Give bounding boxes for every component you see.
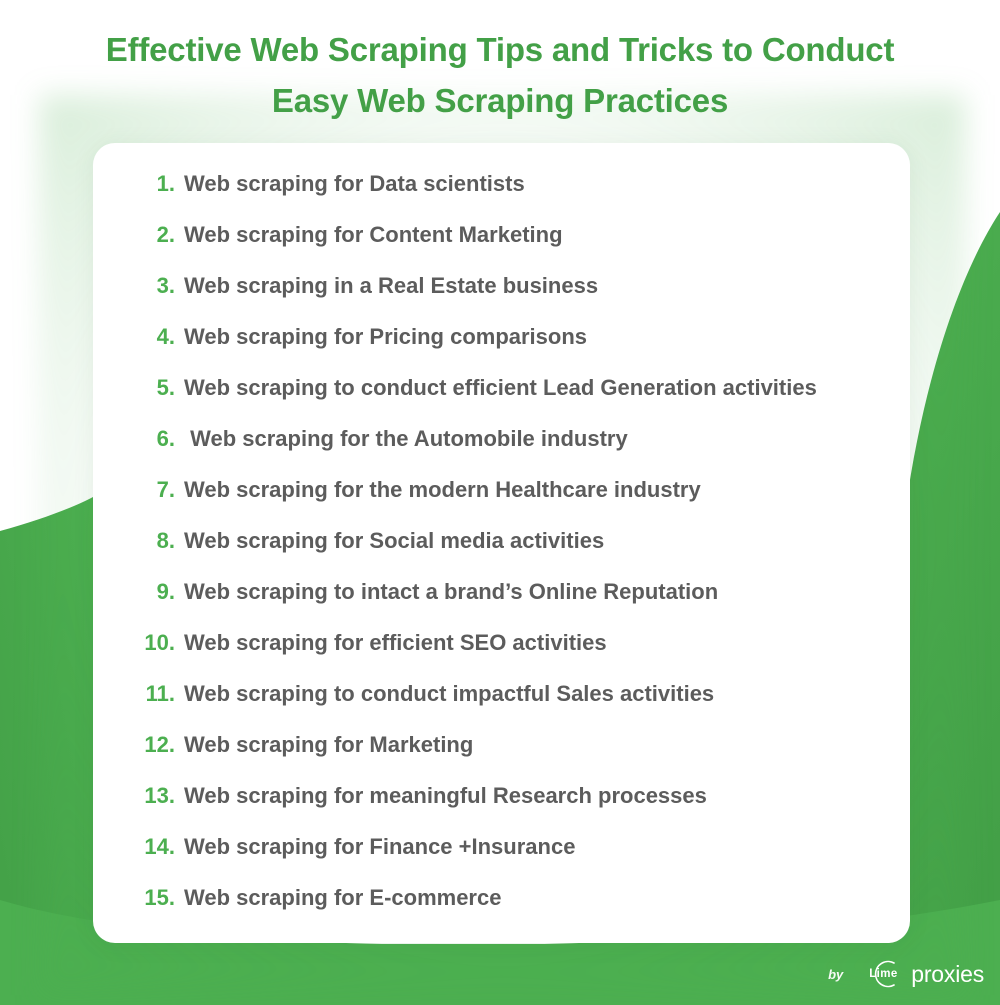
list-item-number: 1. <box>117 173 175 195</box>
list-item-label: Web scraping to conduct efficient Lead G… <box>184 377 817 399</box>
list-item-label: Web scraping to intact a brand’s Online … <box>184 581 718 603</box>
list-item-label: Web scraping for meaningful Research pro… <box>184 785 707 807</box>
list-item-number: 14. <box>117 836 175 858</box>
list-item: 5. Web scraping to conduct efficient Lea… <box>93 377 910 428</box>
list-item: 1. Web scraping for Data scientists <box>93 173 910 224</box>
list-item-number: 6. <box>117 428 175 450</box>
list-item: 13. Web scraping for meaningful Research… <box>93 785 910 836</box>
list-item: 6. Web scraping for the Automobile indus… <box>93 428 910 479</box>
page-title-line-1: Effective Web Scraping Tips and Tricks t… <box>0 24 1000 75</box>
list-item: 3. Web scraping in a Real Estate busines… <box>93 275 910 326</box>
list-item-label: Web scraping for E-commerce <box>184 887 501 909</box>
list-item: 2. Web scraping for Content Marketing <box>93 224 910 275</box>
list-item-label: Web scraping for the Automobile industry <box>184 428 628 450</box>
list-item-label: Web scraping for efficient SEO activitie… <box>184 632 607 654</box>
brand-proxies-label: proxies <box>911 961 984 988</box>
list-item-number: 2. <box>117 224 175 246</box>
list-item-number: 8. <box>117 530 175 552</box>
list-item-label: Web scraping in a Real Estate business <box>184 275 598 297</box>
tips-card: 1. Web scraping for Data scientists 2. W… <box>93 143 910 943</box>
list-item-label: Web scraping for Pricing comparisons <box>184 326 587 348</box>
brand-logo: by Lime proxies <box>828 957 984 991</box>
lime-arc-icon: Lime <box>848 959 908 989</box>
list-item-label: Web scraping to conduct impactful Sales … <box>184 683 714 705</box>
brand-by-label: by <box>828 967 843 982</box>
list-item-number: 11. <box>117 683 175 705</box>
tips-list: 1. Web scraping for Data scientists 2. W… <box>93 143 910 938</box>
list-item: 8. Web scraping for Social media activit… <box>93 530 910 581</box>
list-item-label: Web scraping for the modern Healthcare i… <box>184 479 701 501</box>
list-item-number: 15. <box>117 887 175 909</box>
list-item-label: Web scraping for Content Marketing <box>184 224 563 246</box>
page-title-line-2: Easy Web Scraping Practices <box>0 75 1000 126</box>
list-item-label: Web scraping for Social media activities <box>184 530 604 552</box>
list-item: 10. Web scraping for efficient SEO activ… <box>93 632 910 683</box>
list-item-number: 3. <box>117 275 175 297</box>
list-item-number: 13. <box>117 785 175 807</box>
list-item-number: 4. <box>117 326 175 348</box>
list-item: 9. Web scraping to intact a brand’s Onli… <box>93 581 910 632</box>
list-item-label: Web scraping for Marketing <box>184 734 473 756</box>
list-item: 14. Web scraping for Finance +Insurance <box>93 836 910 887</box>
list-item-label: Web scraping for Finance +Insurance <box>184 836 575 858</box>
list-item-number: 5. <box>117 377 175 399</box>
infographic-canvas: Effective Web Scraping Tips and Tricks t… <box>0 0 1000 1005</box>
list-item-number: 12. <box>117 734 175 756</box>
page-title: Effective Web Scraping Tips and Tricks t… <box>0 24 1000 126</box>
list-item-number: 7. <box>117 479 175 501</box>
list-item: 15. Web scraping for E-commerce <box>93 887 910 938</box>
list-item: 4. Web scraping for Pricing comparisons <box>93 326 910 377</box>
list-item: 7. Web scraping for the modern Healthcar… <box>93 479 910 530</box>
list-item-number: 9. <box>117 581 175 603</box>
brand-lime-label: Lime <box>869 968 897 980</box>
list-item-label: Web scraping for Data scientists <box>184 173 525 195</box>
list-item: 11. Web scraping to conduct impactful Sa… <box>93 683 910 734</box>
list-item: 12. Web scraping for Marketing <box>93 734 910 785</box>
list-item-number: 10. <box>117 632 175 654</box>
